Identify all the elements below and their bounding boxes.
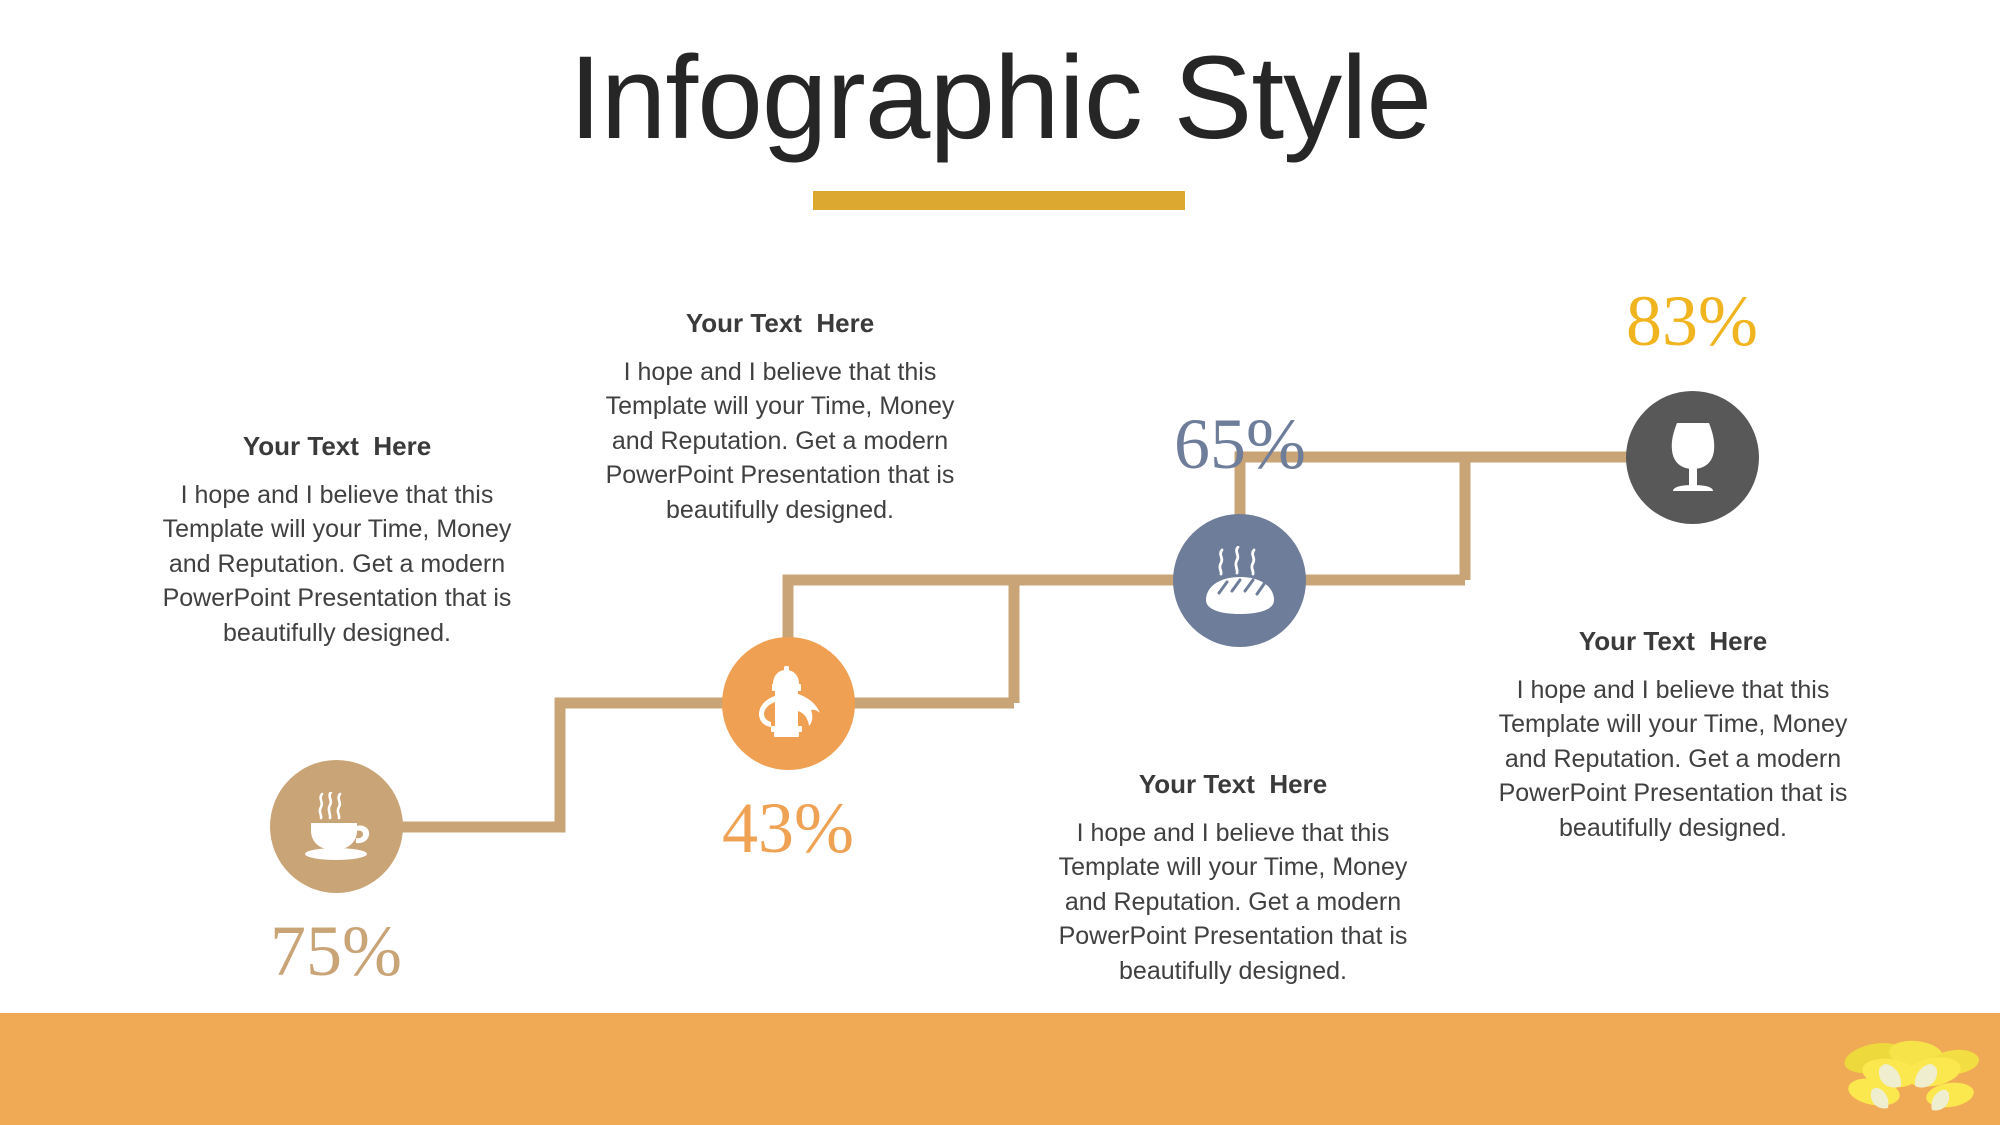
stage-body-4: I hope and I believe that this Template … bbox=[1498, 673, 1848, 846]
bread-loaf-icon bbox=[1200, 546, 1280, 616]
stage-text-block-1: Your Text Here I hope and I believe that… bbox=[152, 430, 522, 650]
stage-circle-4[interactable] bbox=[1626, 391, 1759, 524]
stage-percent-1: 75% bbox=[216, 915, 456, 987]
page-title: Infographic Style bbox=[0, 32, 2000, 164]
stage-heading-1: Your Text Here bbox=[152, 430, 522, 464]
teapot-icon bbox=[751, 664, 827, 744]
stage-heading-2: Your Text Here bbox=[605, 307, 955, 341]
stage-heading-3: Your Text Here bbox=[1058, 768, 1408, 802]
stage-text-block-2: Your Text Here I hope and I believe that… bbox=[605, 307, 955, 527]
title-underline-bar bbox=[813, 191, 1185, 210]
stage-text-block-4: Your Text Here I hope and I believe that… bbox=[1498, 625, 1848, 845]
stage-body-2: I hope and I believe that this Template … bbox=[605, 355, 955, 528]
stage-circle-2[interactable] bbox=[722, 637, 855, 770]
stage-body-3: I hope and I believe that this Template … bbox=[1058, 816, 1408, 989]
stage-percent-3: 65% bbox=[1120, 408, 1360, 480]
infographic-slide: Infographic Style 75% Your Text Here I h… bbox=[0, 0, 2000, 1125]
stage-heading-4: Your Text Here bbox=[1498, 625, 1848, 659]
stage-circle-1[interactable] bbox=[270, 760, 403, 893]
coffee-cup-icon bbox=[298, 792, 376, 862]
stage-circle-3[interactable] bbox=[1173, 514, 1306, 647]
stage-percent-2: 43% bbox=[668, 792, 908, 864]
stage-percent-4: 83% bbox=[1572, 285, 1812, 357]
leaf-cluster-decoration bbox=[1838, 1040, 1988, 1120]
stage-text-block-3: Your Text Here I hope and I believe that… bbox=[1058, 768, 1408, 988]
footer-bar bbox=[0, 1013, 2000, 1125]
stage-body-1: I hope and I believe that this Template … bbox=[152, 478, 522, 651]
wine-glass-icon bbox=[1663, 420, 1723, 496]
